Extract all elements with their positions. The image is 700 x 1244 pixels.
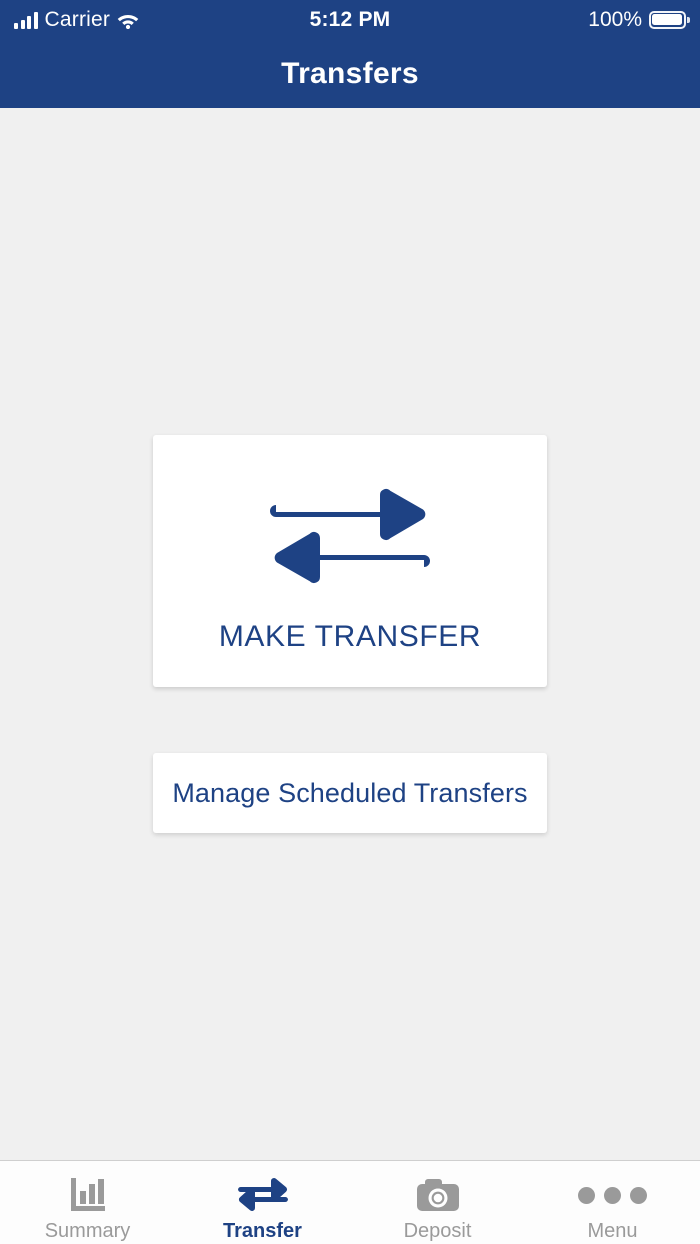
ellipsis-icon — [578, 1174, 647, 1216]
bottom-tab-bar: Summary Transfer Deposit — [0, 1160, 700, 1244]
app-screen: Carrier 5:12 PM 100% T — [0, 0, 700, 1244]
make-transfer-label: MAKE TRANSFER — [219, 620, 481, 654]
tab-summary-label: Summary — [45, 1220, 131, 1243]
tab-menu-label: Menu — [587, 1220, 637, 1243]
battery-percent-label: 100% — [588, 8, 642, 32]
manage-scheduled-transfers-button[interactable]: Manage Scheduled Transfers — [153, 753, 547, 833]
camera-icon — [415, 1174, 461, 1216]
page-title: Transfers — [0, 40, 700, 108]
tab-summary[interactable]: Summary — [0, 1161, 175, 1244]
manage-scheduled-transfers-label: Manage Scheduled Transfers — [172, 778, 527, 809]
tab-transfer-label: Transfer — [223, 1220, 302, 1243]
bar-chart-icon — [66, 1174, 110, 1216]
tab-deposit-label: Deposit — [404, 1220, 472, 1243]
tab-menu[interactable]: Menu — [525, 1161, 700, 1244]
status-bar: Carrier 5:12 PM 100% — [0, 0, 700, 40]
tab-deposit[interactable]: Deposit — [350, 1161, 525, 1244]
make-transfer-button[interactable]: MAKE TRANSFER — [153, 435, 547, 687]
app-header: Carrier 5:12 PM 100% T — [0, 0, 700, 108]
transfer-arrows-icon — [237, 1174, 289, 1216]
transfer-arrows-icon — [270, 476, 430, 588]
main-content: MAKE TRANSFER Manage Scheduled Transfers — [0, 108, 700, 1160]
battery-full-icon — [649, 11, 686, 29]
tab-transfer[interactable]: Transfer — [175, 1161, 350, 1244]
status-bar-right: 100% — [588, 0, 686, 40]
